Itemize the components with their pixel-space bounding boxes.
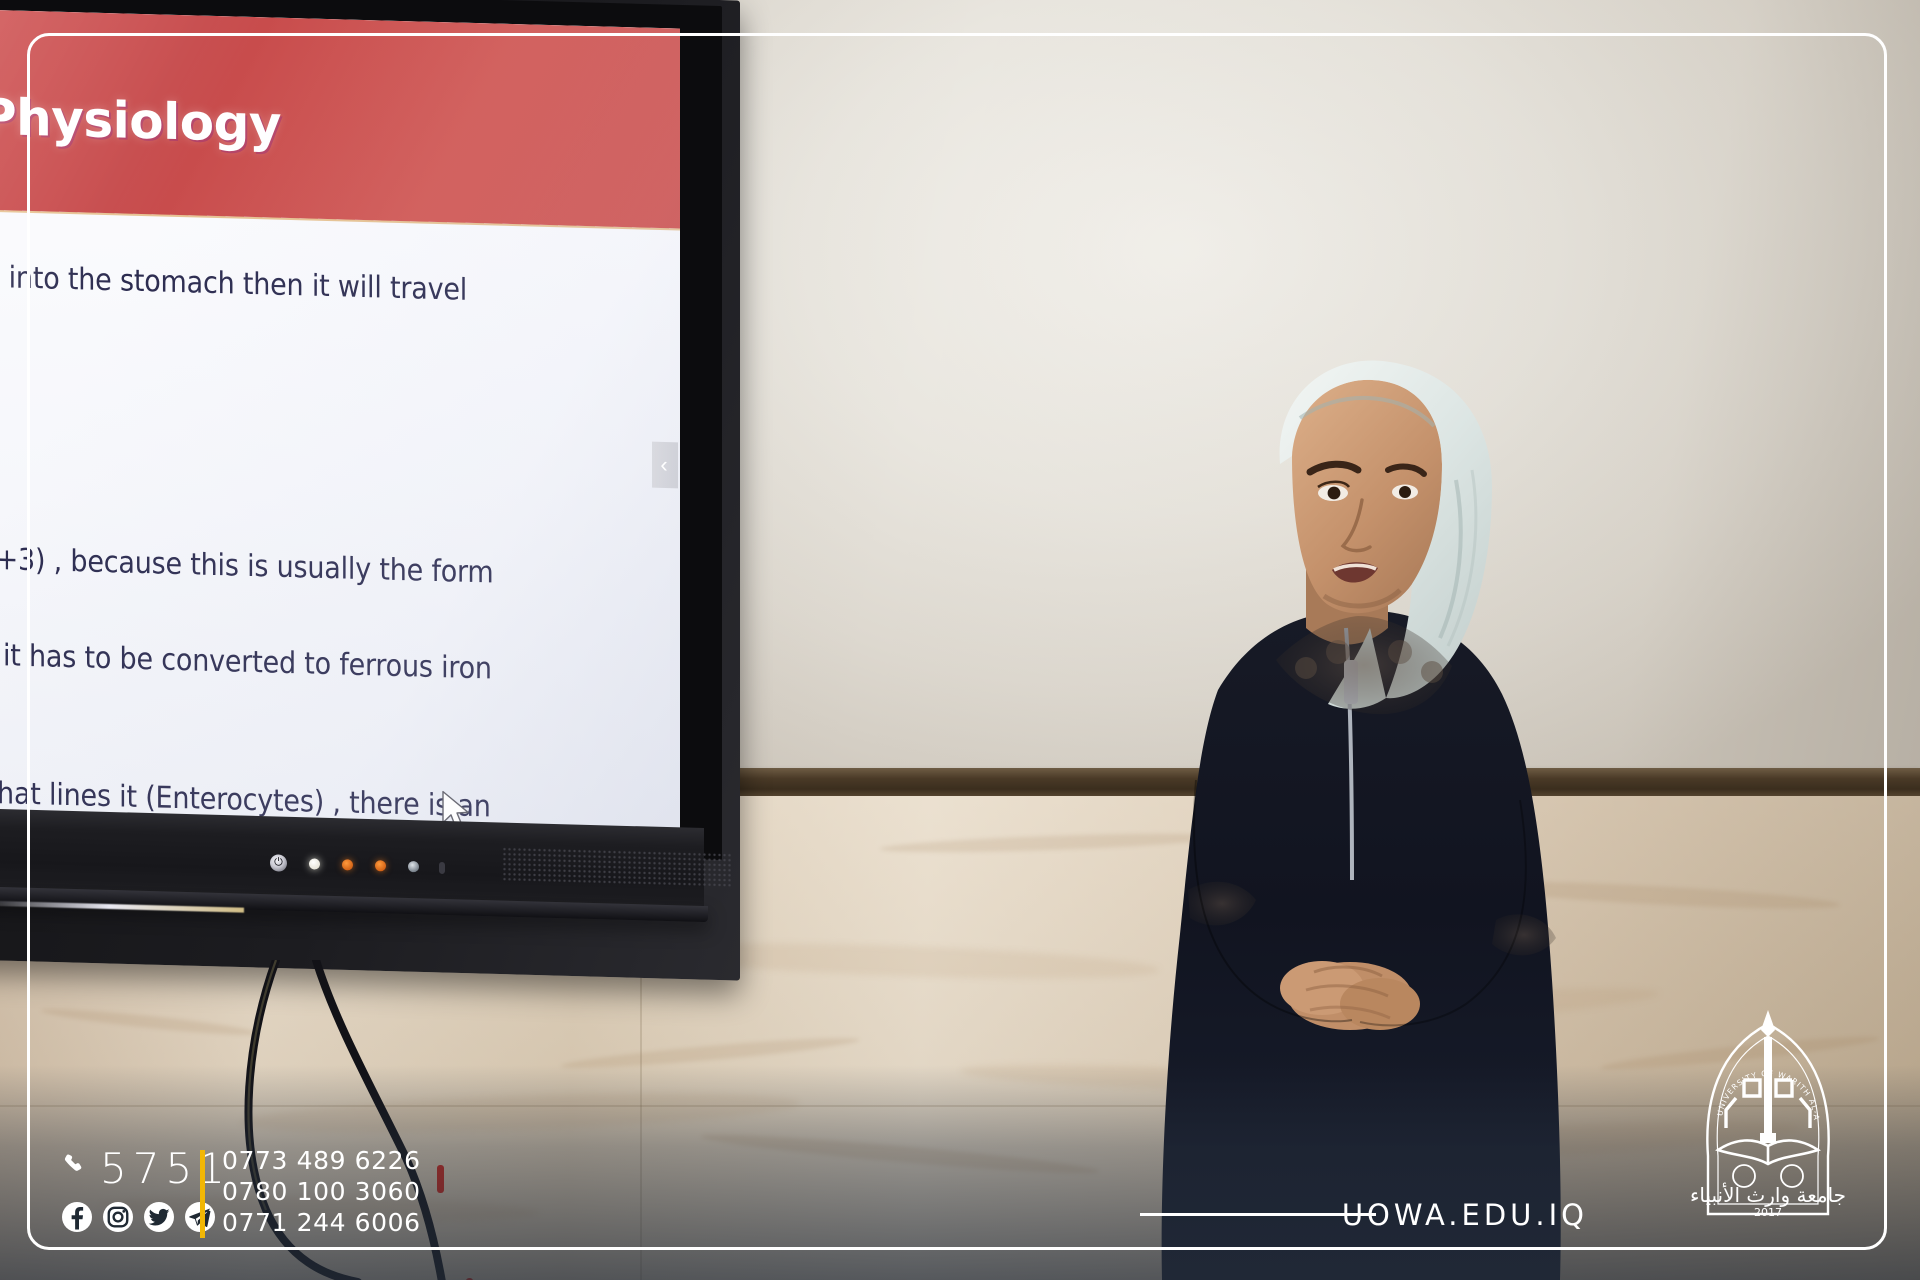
logo-arabic-text: جامعة وارث الأنبياء <box>1690 1183 1846 1207</box>
phone-number: 0771 244 6006 <box>222 1207 421 1238</box>
status-light-white <box>309 858 320 869</box>
slide-title: n Physiology <box>0 86 281 154</box>
slide-line: gus and into the stomach then it will tr… <box>0 257 467 308</box>
contact-block: 5751 <box>62 1148 231 1232</box>
status-light-orange <box>375 860 386 871</box>
facebook-icon[interactable] <box>62 1202 92 1232</box>
phone-icon <box>62 1152 88 1182</box>
logo-year: 2017 <box>1754 1206 1782 1219</box>
contact-divider <box>200 1150 205 1238</box>
phone-number: 0780 100 3060 <box>222 1176 421 1207</box>
phone-number: 0773 489 6226 <box>222 1145 421 1176</box>
hotline-row: 5751 <box>62 1148 231 1190</box>
display-screen[interactable]: n Physiology gus and into the stomach th… <box>0 7 680 868</box>
power-icon[interactable]: ⏻ <box>270 854 287 871</box>
university-of-warith-al-anbiya-logo: جامعة وارث الأنبياء 2017 UNIVERSITY OF W… <box>1678 1006 1858 1236</box>
presentation-slide: n Physiology gus and into the stomach th… <box>0 7 680 868</box>
slide-line: form so it has to be converted to ferrou… <box>0 635 492 686</box>
hotline-number: 5751 <box>100 1148 231 1190</box>
twitter-icon[interactable] <box>144 1202 174 1232</box>
slide-title-text: Physiology <box>0 88 281 154</box>
footer-rule-right <box>1140 1213 1376 1216</box>
speaker-grille <box>502 847 732 887</box>
interactive-whiteboard[interactable]: n Physiology gus and into the stomach th… <box>0 0 740 970</box>
display-buttons[interactable]: ⏻ <box>270 854 445 876</box>
slide-line: orm (Fe+3) , because this is usually the… <box>0 539 494 590</box>
phone-numbers: 0773 489 6226 0780 100 3060 0771 244 600… <box>222 1145 421 1238</box>
chevron-left-icon[interactable]: ‹ <box>652 442 678 489</box>
status-light-orange <box>342 859 353 870</box>
presenter-figure <box>1100 360 1620 1280</box>
ir-receiver-icon <box>439 861 445 873</box>
social-links[interactable] <box>62 1202 231 1232</box>
website-url[interactable]: UOWA.EDU.IQ <box>1342 1198 1588 1232</box>
instagram-icon[interactable] <box>103 1202 133 1232</box>
photo-canvas: n Physiology gus and into the stomach th… <box>0 0 1920 1280</box>
status-light-gray <box>408 861 419 872</box>
